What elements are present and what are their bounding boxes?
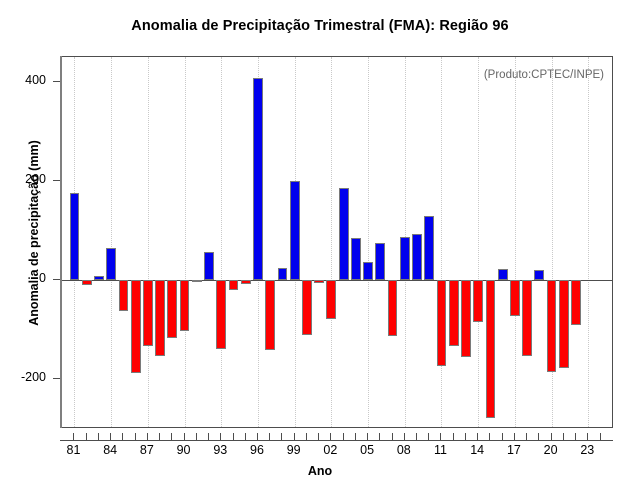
- x-tick: [98, 433, 99, 440]
- x-tick: [404, 433, 405, 440]
- bar-2009: [412, 234, 422, 281]
- x-tick: [526, 433, 527, 440]
- x-axis-title: Ano: [0, 464, 640, 478]
- x-tick: [355, 433, 356, 440]
- x-tick-label: 14: [470, 443, 484, 457]
- x-tick-label: 17: [507, 443, 521, 457]
- x-tick-label: 20: [544, 443, 558, 457]
- bar-2004: [351, 238, 361, 281]
- x-tick-label: 23: [580, 443, 594, 457]
- plot-area: (Produto:CPTEC/INPE): [60, 56, 613, 428]
- x-tick: [233, 433, 234, 440]
- x-tick: [551, 433, 552, 440]
- bar-2005: [363, 262, 373, 280]
- x-tick: [465, 433, 466, 440]
- bar-2006: [375, 243, 385, 280]
- bar-1999: [290, 181, 300, 280]
- x-tick-label: 93: [213, 443, 227, 457]
- x-tick-label: 81: [67, 443, 81, 457]
- x-tick: [575, 433, 576, 440]
- x-tick-label: 90: [177, 443, 191, 457]
- x-tick-label: 11: [434, 443, 447, 457]
- x-tick: [514, 433, 515, 440]
- bar-1996: [253, 78, 263, 280]
- bar-2022: [571, 280, 581, 325]
- x-tick: [379, 433, 380, 440]
- y-tick-label: -200: [2, 370, 46, 384]
- y-axis-title: Anomalia de precipitação (mm): [27, 103, 41, 363]
- x-tick-label: 02: [323, 443, 337, 457]
- x-tick: [281, 433, 282, 440]
- y-tick: [53, 378, 60, 379]
- x-tick: [159, 433, 160, 440]
- x-tick: [257, 433, 258, 440]
- bar-1997: [265, 280, 275, 349]
- bar-1982: [82, 280, 92, 285]
- x-tick: [330, 433, 331, 440]
- x-tick: [587, 433, 588, 440]
- x-tick: [220, 433, 221, 440]
- x-tick: [489, 433, 490, 440]
- bar-2017: [510, 280, 520, 316]
- source-annotation: (Produto:CPTEC/INPE): [484, 69, 604, 81]
- x-tick: [392, 433, 393, 440]
- x-tick: [135, 433, 136, 440]
- y-axis-line: [60, 56, 62, 428]
- bar-2002: [326, 280, 336, 319]
- bar-2018: [522, 280, 532, 355]
- bar-2010: [424, 216, 434, 280]
- x-tick: [294, 433, 295, 440]
- x-tick-label: 87: [140, 443, 154, 457]
- x-tick: [600, 433, 601, 440]
- x-tick: [416, 433, 417, 440]
- x-tick: [269, 433, 270, 440]
- x-tick: [86, 433, 87, 440]
- bar-1983: [94, 276, 104, 280]
- x-tick: [343, 433, 344, 440]
- y-tick-label: 400: [2, 73, 46, 87]
- bar-2000: [302, 280, 312, 335]
- y-tick: [53, 180, 60, 181]
- x-tick-label: 99: [287, 443, 301, 457]
- x-tick: [73, 433, 74, 440]
- y-tick: [53, 81, 60, 82]
- bar-2013: [461, 280, 471, 357]
- bar-2003: [339, 188, 349, 280]
- bar-2014: [473, 280, 483, 322]
- x-tick-label: 96: [250, 443, 264, 457]
- x-tick: [367, 433, 368, 440]
- x-tick: [245, 433, 246, 440]
- bar-1985: [119, 280, 129, 311]
- x-tick: [428, 433, 429, 440]
- x-tick: [110, 433, 111, 440]
- x-tick: [440, 433, 441, 440]
- bar-1981: [70, 193, 80, 280]
- bar-1991: [192, 280, 202, 282]
- x-tick-label: 08: [397, 443, 411, 457]
- y-tick: [53, 279, 60, 280]
- x-tick: [196, 433, 197, 440]
- bar-1988: [155, 280, 165, 355]
- x-tick: [208, 433, 209, 440]
- bar-series: [61, 57, 612, 427]
- bar-2001: [314, 280, 324, 283]
- x-tick: [306, 433, 307, 440]
- x-tick: [502, 433, 503, 440]
- bar-1998: [278, 268, 288, 280]
- bar-2016: [498, 269, 508, 280]
- bar-2021: [559, 280, 569, 368]
- x-tick: [453, 433, 454, 440]
- x-tick-label: 05: [360, 443, 374, 457]
- page-title: Anomalia de Precipitação Trimestral (FMA…: [0, 18, 640, 34]
- bar-2020: [547, 280, 557, 372]
- bar-2011: [437, 280, 447, 366]
- x-tick: [147, 433, 148, 440]
- x-tick-label: 84: [103, 443, 117, 457]
- x-tick: [184, 433, 185, 440]
- x-tick: [318, 433, 319, 440]
- bar-1993: [216, 280, 226, 348]
- bar-1984: [106, 248, 116, 280]
- bar-2012: [449, 280, 459, 345]
- bar-1987: [143, 280, 153, 346]
- bar-2008: [400, 237, 410, 281]
- bar-1995: [241, 280, 251, 283]
- bar-2015: [486, 280, 496, 418]
- bar-2019: [534, 270, 544, 280]
- x-axis-line: [60, 440, 613, 441]
- bar-1994: [229, 280, 239, 290]
- x-tick: [171, 433, 172, 440]
- bar-1990: [180, 280, 190, 331]
- x-tick: [563, 433, 564, 440]
- bar-1989: [167, 280, 177, 338]
- x-tick: [122, 433, 123, 440]
- x-tick: [477, 433, 478, 440]
- bar-1986: [131, 280, 141, 373]
- chart-root: Anomalia de Precipitação Trimestral (FMA…: [0, 0, 640, 500]
- bar-1992: [204, 252, 214, 280]
- bar-2007: [388, 280, 398, 336]
- x-tick: [538, 433, 539, 440]
